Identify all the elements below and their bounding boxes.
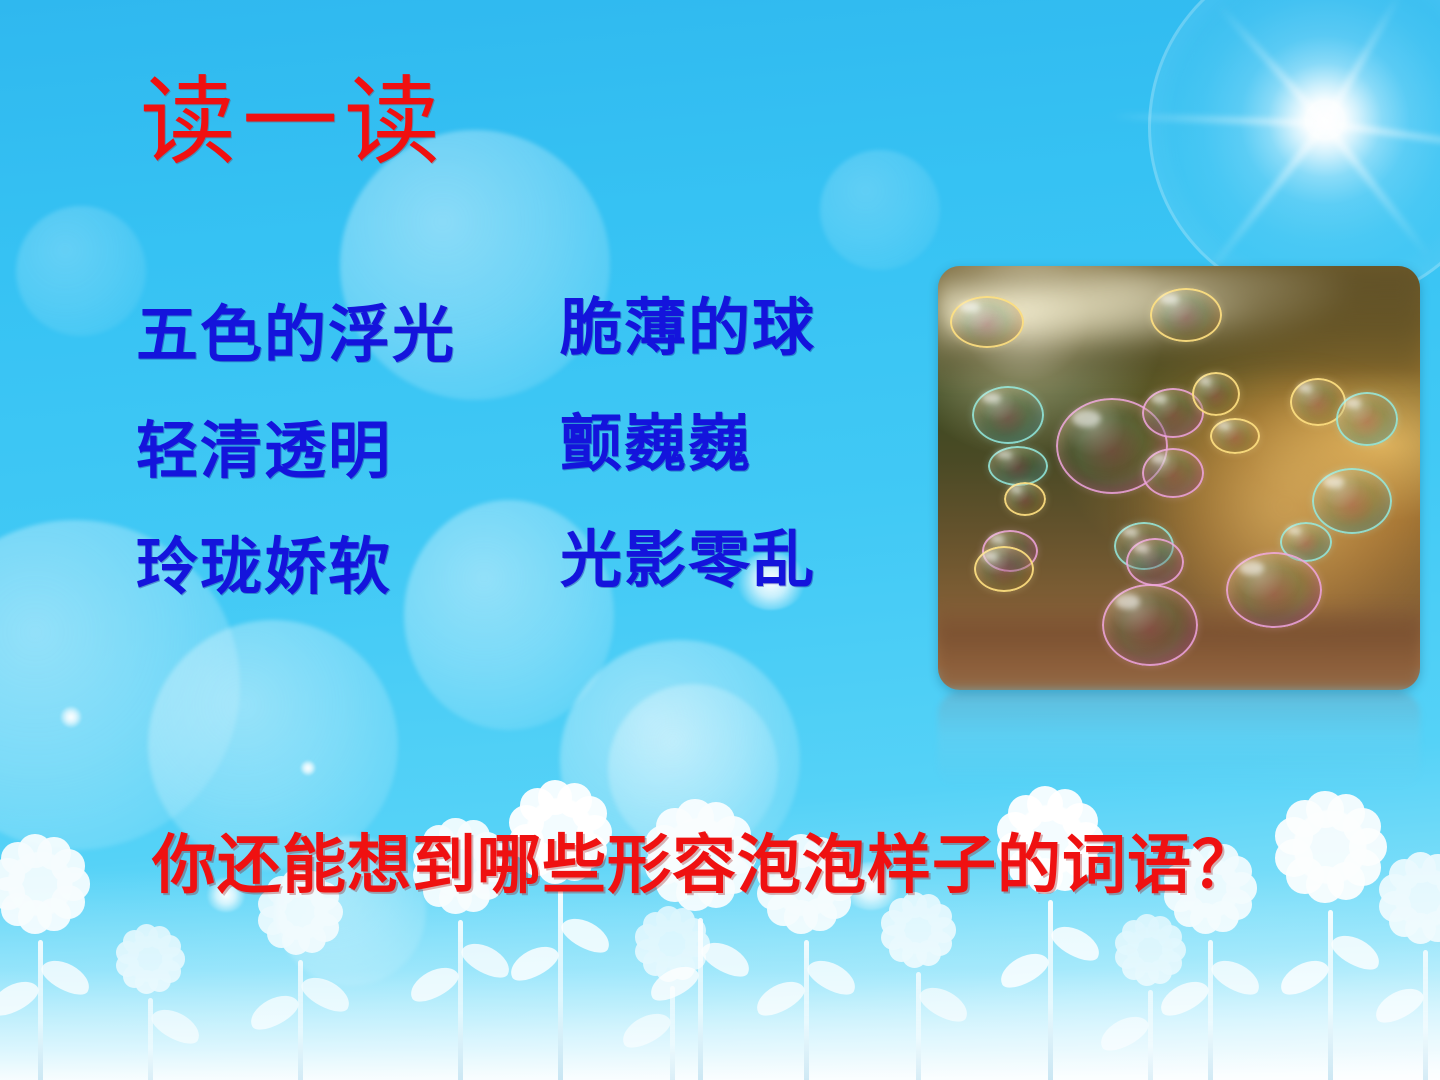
flower-leaf	[751, 974, 809, 1021]
daisy-flower-icon	[0, 828, 96, 1080]
flower-leaf	[0, 974, 43, 1021]
flower-leaf	[297, 970, 355, 1017]
flower-petal	[158, 960, 181, 983]
daisy-flower-icon	[990, 780, 1110, 1080]
flower-petal	[572, 796, 607, 831]
bokeh-ring-icon	[980, 912, 1076, 1008]
flower-stem	[1148, 990, 1153, 1080]
flower-petal	[538, 780, 573, 815]
flower-petal	[1422, 854, 1440, 885]
flower-stem	[298, 960, 303, 1080]
flower-leaf	[1155, 974, 1213, 1021]
sun-halo-icon	[1148, 0, 1440, 306]
sun-flare-icon	[1175, 0, 1440, 270]
flower-petal	[1158, 951, 1182, 975]
flower-petal	[1135, 914, 1159, 938]
flower-head	[1395, 868, 1440, 928]
flower-petal	[1148, 960, 1172, 984]
bubble-photo-image	[938, 266, 1420, 690]
soap-bubble-icon	[1150, 288, 1222, 342]
flower-petal	[148, 969, 171, 992]
sun-ray-icon	[1322, 121, 1432, 259]
flower-petal	[116, 941, 139, 964]
flower-petal	[57, 867, 91, 901]
flower-petal	[310, 913, 339, 942]
flower-petal	[1, 842, 35, 876]
flower-leaf	[1095, 1009, 1153, 1056]
soap-bubble-icon	[1142, 448, 1204, 498]
flower-petal	[1286, 857, 1324, 895]
flower-petal	[931, 917, 956, 942]
sun-ray-icon	[1202, 121, 1328, 279]
flower-petal	[1436, 899, 1440, 930]
flower-petal	[148, 926, 171, 949]
flower-stem	[670, 986, 675, 1080]
flower-petal	[803, 898, 837, 932]
sparkle-icon	[60, 706, 82, 728]
flower-petal	[1275, 839, 1313, 877]
flower-petal	[1379, 891, 1410, 922]
flower-leaf	[505, 939, 563, 986]
soap-bubble-icon	[972, 386, 1044, 444]
flower-petal	[51, 885, 85, 919]
flower-petal	[1115, 931, 1139, 955]
flower-petal	[881, 910, 906, 935]
soap-bubble-icon	[1126, 538, 1184, 586]
flower-petal	[0, 877, 25, 911]
flower-leaf	[1370, 981, 1428, 1028]
bokeh-bubble-icon	[16, 206, 146, 336]
flower-petal	[135, 970, 158, 993]
flower-petal	[1275, 817, 1313, 855]
flower-petal	[1, 893, 35, 927]
flower-petal	[1306, 866, 1344, 904]
soap-bubble-icon	[1102, 584, 1198, 666]
flower-petal	[685, 931, 710, 956]
flower-petal	[927, 931, 952, 956]
flower-petal	[158, 935, 181, 958]
flower-head	[8, 852, 73, 917]
soap-bubble-icon	[1004, 482, 1046, 516]
slide-canvas: 读一读 五色的浮光 轻清透明 玲珑娇软 脆薄的球 颤巍巍 光影零乱	[0, 0, 1440, 1080]
flower-petal	[889, 936, 914, 961]
flower-petal	[557, 783, 592, 818]
word-item: 轻清透明	[136, 421, 456, 483]
flower-petal	[1162, 938, 1186, 962]
soap-bubble-icon	[1226, 552, 1322, 628]
flower-petal	[1327, 794, 1365, 832]
flower-petal	[1436, 866, 1440, 897]
ground-glow	[0, 870, 1440, 1080]
soap-bubble-icon	[988, 446, 1048, 486]
flower-petal	[681, 918, 706, 943]
flower-petal	[123, 930, 146, 953]
flower-stem	[1048, 900, 1053, 1080]
flower-stem	[1208, 940, 1213, 1080]
photo-reflection	[938, 692, 1420, 788]
flower-petal	[1343, 808, 1381, 846]
flower-head	[1127, 927, 1173, 973]
flower-petal	[1207, 901, 1238, 932]
flower-petal	[37, 898, 71, 932]
flower-petal	[18, 834, 52, 868]
bokeh-bubble-icon	[820, 150, 940, 270]
flower-petal	[670, 954, 695, 979]
flower-petal	[889, 898, 914, 923]
flower-leaf	[457, 937, 515, 984]
flower-petal	[282, 926, 311, 955]
flower-petal	[267, 919, 296, 948]
flower-leaf	[405, 960, 463, 1007]
flower-stem	[148, 998, 153, 1080]
word-item: 玲珑娇软	[136, 537, 456, 599]
flower-petal	[1327, 862, 1365, 900]
flower-petal	[1008, 795, 1044, 831]
flower-petal	[520, 788, 555, 823]
flower-petal	[1389, 859, 1420, 890]
bubble-photo	[938, 266, 1420, 690]
flower-head	[1293, 810, 1366, 883]
flower-petal	[1379, 874, 1410, 905]
flower-leaf	[557, 911, 615, 958]
flower-petal	[1027, 786, 1063, 822]
flower-leaf	[645, 959, 703, 1006]
flower-petal	[314, 898, 343, 927]
bokeh-ring-icon	[1000, 962, 1046, 1008]
flower-petal	[1115, 945, 1139, 969]
flower-petal	[1405, 913, 1436, 944]
sun-ray-icon	[1110, 112, 1325, 126]
bokeh-bubble-icon	[608, 684, 778, 854]
flower-petal	[1389, 906, 1420, 937]
page-title: 读一读	[140, 68, 446, 178]
sun-ray-icon	[1322, 0, 1403, 125]
soap-bubble-icon	[1210, 418, 1260, 454]
flower-petal	[135, 924, 158, 947]
flower-petal	[0, 858, 25, 892]
flower-leaf	[617, 1007, 675, 1054]
flower-leaf	[1275, 953, 1333, 1000]
flower-leaf	[245, 988, 303, 1035]
flower-petal	[1343, 849, 1381, 887]
flower-petal	[881, 925, 906, 950]
flower-leaf	[1207, 953, 1265, 1000]
flower-petal	[784, 900, 818, 934]
flower-petal	[1158, 925, 1182, 949]
flower-petal	[51, 849, 85, 883]
sparkle-icon	[300, 760, 316, 776]
daisy-flower-icon	[630, 902, 714, 1080]
daisy-flower-icon	[1110, 910, 1190, 1080]
flower-petal	[37, 837, 71, 871]
daisy-flower-icon	[111, 920, 189, 1080]
flower-stem	[558, 890, 563, 1080]
flower-petal	[670, 908, 695, 933]
flower-petal	[1148, 916, 1172, 940]
flower-petal	[1405, 852, 1436, 883]
flower-leaf	[147, 1002, 205, 1049]
soap-bubble-icon	[1336, 392, 1398, 446]
flower-petal	[1306, 791, 1344, 829]
flower-petal	[1190, 903, 1221, 934]
word-list-right: 脆薄的球 颤巍巍 光影零乱	[560, 298, 816, 646]
flower-stem	[804, 940, 809, 1080]
flower-petal	[1422, 911, 1440, 942]
flower-petal	[643, 950, 668, 975]
flower-leaf	[1047, 920, 1105, 967]
flower-leaf	[697, 935, 755, 982]
flower-petal	[1135, 962, 1159, 986]
soap-bubble-icon	[1312, 468, 1392, 534]
flower-petal	[1047, 789, 1083, 825]
flower-head	[894, 906, 943, 955]
flower-leaf	[1327, 928, 1385, 975]
flower-petal	[258, 906, 287, 935]
flower-stem	[38, 940, 43, 1080]
flower-petal	[123, 965, 146, 988]
daisy-flower-icon	[1373, 846, 1440, 1080]
daisy-flower-icon	[1267, 784, 1393, 1080]
word-item: 五色的浮光	[136, 305, 456, 367]
word-list-left: 五色的浮光 轻清透明 玲珑娇软	[136, 305, 456, 653]
flower-stem	[698, 918, 703, 1080]
soap-bubble-icon	[974, 546, 1034, 592]
flower-leaf	[995, 946, 1053, 993]
flower-petal	[656, 906, 681, 931]
flower-leaf	[915, 980, 973, 1027]
flower-petal	[1286, 800, 1324, 838]
word-item: 颤巍巍	[560, 414, 816, 476]
soap-bubble-icon	[950, 296, 1024, 348]
flower-petal	[643, 912, 668, 937]
soap-bubble-icon	[1192, 372, 1240, 416]
flower-petal	[162, 947, 185, 970]
flower-head	[648, 920, 697, 969]
daisy-flower-icon	[876, 888, 960, 1080]
flower-petal	[635, 924, 660, 949]
flower-petal	[656, 956, 681, 981]
flower-petal	[916, 940, 941, 965]
flower-petal	[902, 942, 927, 967]
sun-ray-icon	[1215, 2, 1327, 126]
flower-petal	[1122, 920, 1146, 944]
flower-stem	[1328, 910, 1333, 1080]
flower-stem	[916, 972, 921, 1080]
flower-stem	[1423, 950, 1428, 1080]
question-text: 你还能想到哪些形容泡泡样子的词语？	[152, 832, 1257, 899]
flower-petal	[116, 954, 139, 977]
flower-petal	[298, 924, 327, 953]
flower-petal	[681, 945, 706, 970]
flower-petal	[927, 904, 952, 929]
flower-stem	[458, 920, 463, 1080]
sun-ray-icon	[1325, 120, 1440, 159]
flower-petal	[635, 939, 660, 964]
word-item: 脆薄的球	[560, 298, 816, 360]
flower-leaf	[803, 953, 861, 1000]
flower-petal	[1122, 956, 1146, 980]
flower-head	[127, 936, 172, 981]
flower-petal	[1349, 828, 1387, 866]
daisy-flower-icon	[502, 774, 618, 1080]
word-item: 光影零乱	[560, 530, 816, 592]
flower-leaf	[37, 953, 95, 1000]
flower-petal	[18, 900, 52, 934]
